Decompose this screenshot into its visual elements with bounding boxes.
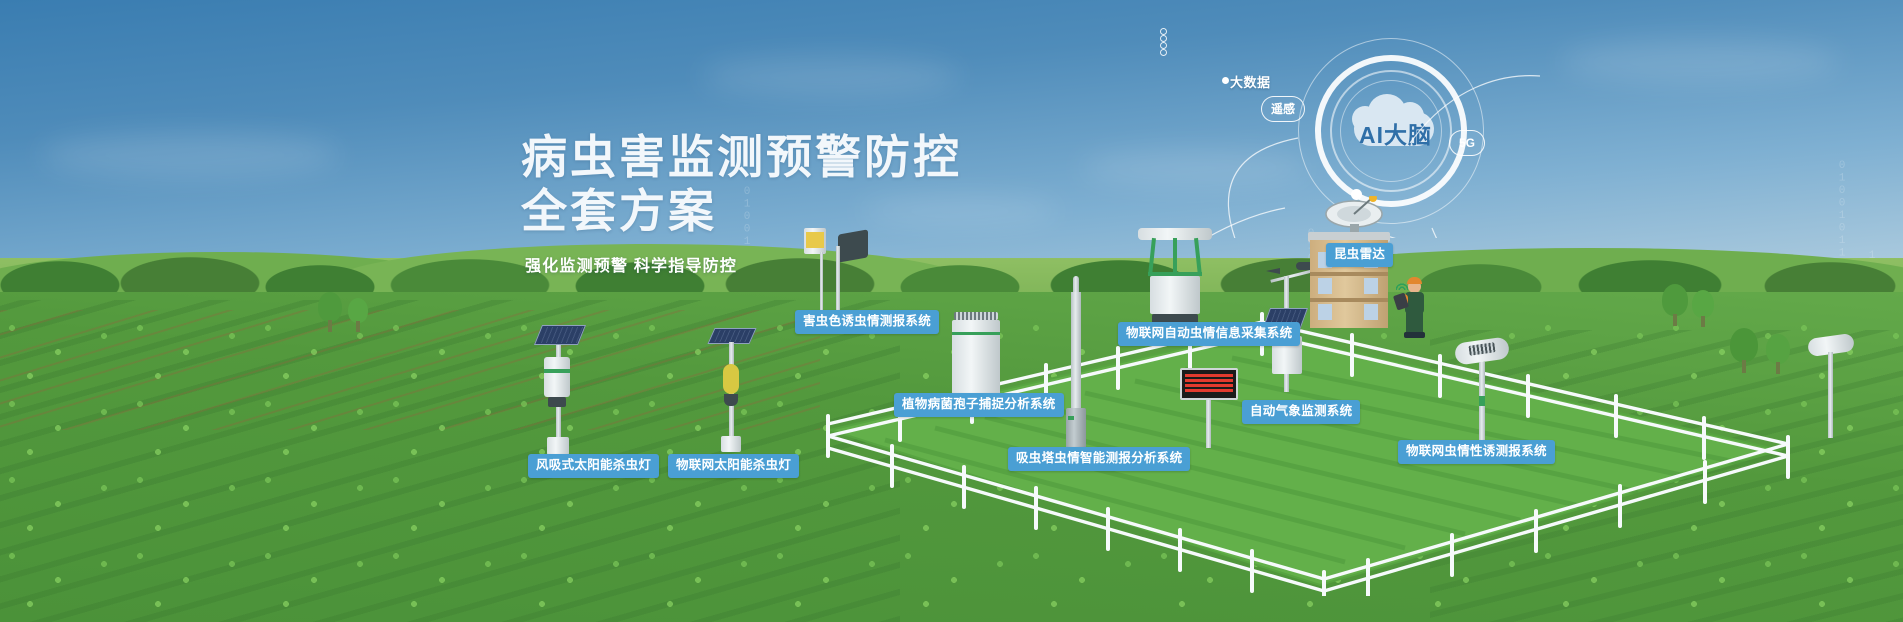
tree-trunk [1776,362,1780,374]
trap-housing [838,229,868,262]
tree-trunk [1742,360,1746,373]
tree-trunk [1673,314,1677,326]
field-worker [1394,274,1436,340]
label-iot-solar-lamp[interactable]: 物联网太阳能杀虫灯 [668,454,799,478]
device-iot-pheromone-trap[interactable] [1455,340,1515,450]
lamp-accent [544,369,570,373]
building-window-3 [1318,278,1332,294]
device-spore-capture[interactable] [948,312,1006,404]
device-suction-tower[interactable] [1062,276,1090,456]
tree-canopy [1766,334,1790,364]
collector-cage-r [1194,238,1202,276]
label-suction-tower[interactable]: 吸虫塔虫情智能测报分析系统 [1008,447,1190,471]
cabinet-top-vent [954,312,998,320]
tree-trunk [328,320,332,332]
tree-canopy [318,292,342,322]
trap-pole [836,246,840,312]
pheromone-pole [1479,362,1485,450]
hero-title-line-1: 病虫害监测预警防控 [521,130,962,184]
building-window-5 [1318,304,1332,320]
wind-vane [1266,268,1280,274]
trap-sticky-card [806,232,824,248]
ai-connector-arcs [980,28,1600,238]
ai-node-yaogan[interactable]: 遥感 [1261,96,1305,122]
lamp-lure [723,364,739,394]
collector-cage-l [1148,238,1156,276]
led-line-3 [1185,384,1233,387]
tree-canopy [348,298,368,323]
led-line-4 [1185,389,1233,392]
ai-node-bigdata: 大数据 [1230,72,1271,91]
lamp-collector [724,394,738,406]
hero-title-line-2: 全套方案 [521,184,962,238]
label-color-trap[interactable]: 害虫色诱虫情测报系统 [795,310,939,334]
building-band-1 [1310,272,1388,276]
cabinet-accent [952,332,1000,335]
label-wind-solar-lamp[interactable]: 风吸式太阳能杀虫灯 [528,454,659,478]
building-band-2 [1310,298,1388,302]
cloud-decor-1 [40,132,340,178]
solar-panel [534,325,586,345]
building-window-4 [1364,278,1378,294]
label-insect-radar[interactable]: 昆虫雷达 [1326,243,1393,267]
tree-canopy [1692,290,1714,318]
led-line-1 [1185,374,1233,377]
device-iot-pest-collector[interactable] [1138,228,1212,336]
device-led-display[interactable] [1180,368,1240,448]
led-screen [1180,368,1238,400]
led-pole [1206,400,1211,448]
radar-dish-icon [1320,196,1400,236]
trap-ladder [820,252,823,312]
hero-subtitle: 强化监测预警 科学指导防控 [525,252,962,276]
cloud-decor-4 [1560,40,1840,84]
tree-canopy [1730,328,1758,362]
building-window-6 [1364,304,1378,320]
ai-node-dot-bigdata [1222,77,1229,84]
tree-canopy [1662,284,1688,316]
label-iot-pest-collect[interactable]: 物联网自动虫情信息采集系统 [1118,322,1300,346]
device-iot-solar-lamp[interactable] [705,328,761,452]
device-right-sensor-pole[interactable] [1808,336,1860,438]
lamp-fan [548,397,566,407]
led-line-2 [1185,379,1233,382]
wifi-icon [1396,280,1408,290]
lamp-head [544,357,570,397]
device-insect-radar[interactable] [1320,196,1400,236]
label-spore-capture[interactable]: 植物病菌孢子捕捉分析系统 [894,393,1064,417]
hero-text-block: 病虫害监测预警防控 全套方案 强化监测预警 科学指导防控 [521,130,962,276]
tree-trunk [1701,316,1705,327]
tower-accent [1068,416,1074,420]
worker-cap [1407,277,1422,284]
sensor-pole [1828,352,1833,438]
worker-boots [1404,332,1425,338]
pheromone-accent [1479,396,1485,406]
label-weather-station[interactable]: 自动气象监测系统 [1242,400,1360,424]
tree-trunk [356,321,360,332]
collector-body [1150,276,1200,314]
cloud-decor-2 [700,56,960,96]
infographic-banner: 010010110101 01001011 010010110111010010… [0,0,1903,622]
worker-legs [1406,312,1423,334]
label-iot-pheromone[interactable]: 物联网虫情性诱测报系统 [1398,440,1555,464]
collector-cage-m [1173,238,1177,276]
ai-node-5g[interactable]: 5G [1449,130,1485,156]
device-wind-solar-lamp[interactable] [528,325,592,455]
tower-mast [1071,292,1081,412]
device-color-lure-trap[interactable] [800,222,880,312]
lamp-base [721,436,741,452]
lamp-base [547,437,569,455]
